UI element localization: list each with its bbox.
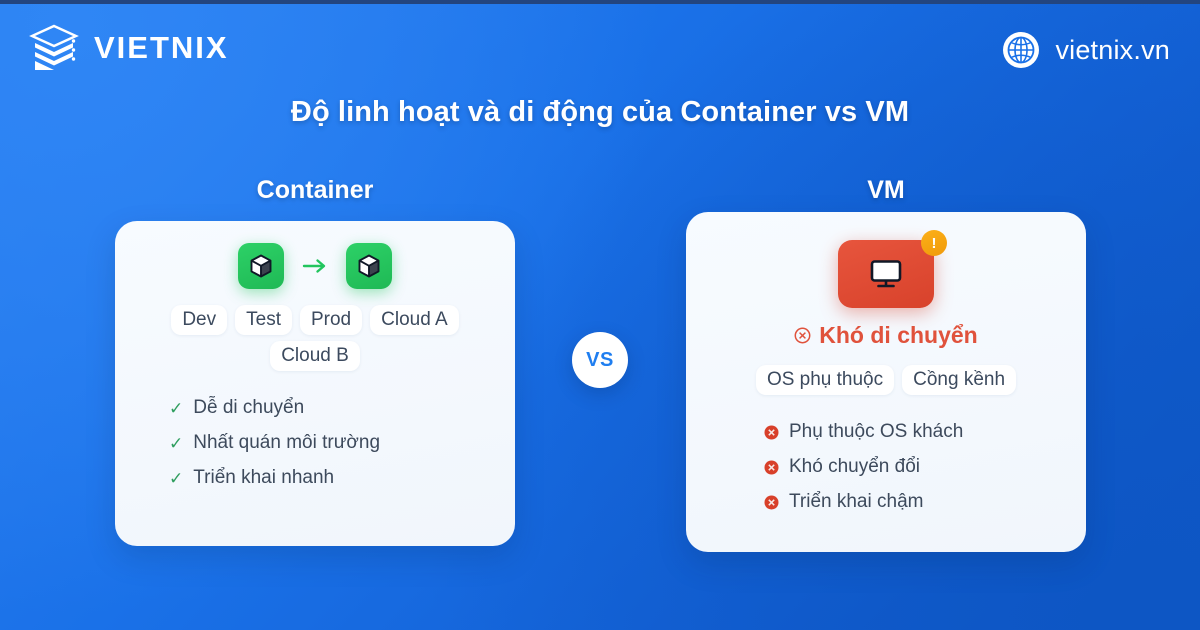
circle-x-icon [764, 495, 779, 510]
page-title: Độ linh hoạt và di động của Container vs… [0, 96, 1200, 129]
tag-item: Cloud B [270, 341, 360, 371]
website-text: vietnix.vn [1055, 35, 1170, 66]
container-tags: Dev Test Prod Cloud A Cloud B [115, 289, 515, 371]
arrow-right-icon [300, 255, 330, 277]
cube-icon [346, 243, 392, 289]
column-heading-vm: VM [686, 176, 1086, 205]
website-label: vietnix.vn [1001, 30, 1170, 70]
brand-logo: VIETNIX [28, 22, 229, 74]
tag-item: Cloud A [370, 305, 459, 335]
check-icon: ✓ [169, 400, 183, 417]
brand-name: VIETNIX [94, 30, 229, 66]
list-item: Triển khai chậm [764, 491, 1086, 513]
infographic-canvas: VIETNIX vietnix.vn Độ linh hoạt và di độ… [0, 0, 1200, 630]
vm-icon-group: ! [838, 240, 934, 308]
list-item-label: Khó chuyển đổi [789, 456, 920, 478]
circle-x-icon [794, 327, 811, 344]
container-bullets: ✓ Dễ di chuyển ✓ Nhất quán môi trường ✓ … [115, 371, 515, 489]
list-item-label: Dễ di chuyển [193, 397, 304, 419]
vs-badge: VS [572, 332, 628, 388]
list-item-label: Nhất quán môi trường [193, 432, 380, 454]
list-item: ✓ Nhất quán môi trường [169, 432, 515, 454]
warning-badge: ! [921, 230, 947, 256]
list-item-label: Phụ thuộc OS khách [789, 421, 963, 443]
vm-card: ! Khó di chuyển OS phụ thuộc Cồng kềnh [686, 212, 1086, 552]
container-card: Dev Test Prod Cloud A Cloud B ✓ Dễ di ch… [115, 221, 515, 546]
vm-status: Khó di chuyển [686, 308, 1086, 349]
list-item-label: Triển khai chậm [789, 491, 923, 513]
list-item-label: Triển khai nhanh [193, 467, 334, 489]
circle-x-icon [764, 425, 779, 440]
list-item: ✓ Dễ di chuyển [169, 397, 515, 419]
check-icon: ✓ [169, 435, 183, 452]
list-item: Khó chuyển đổi [764, 456, 1086, 478]
tag-item: OS phụ thuộc [756, 365, 894, 395]
container-icon-row [115, 221, 515, 289]
tag-item: Prod [300, 305, 362, 335]
vm-bullets: Phụ thuộc OS khách Khó chuyển đổi [686, 395, 1086, 513]
circle-x-icon [764, 460, 779, 475]
tag-item: Dev [171, 305, 227, 335]
list-item: Phụ thuộc OS khách [764, 421, 1086, 443]
tag-item: Cồng kềnh [902, 365, 1016, 395]
tag-item: Test [235, 305, 292, 335]
stacked-layers-icon [28, 22, 80, 74]
cube-icon [238, 243, 284, 289]
check-icon: ✓ [169, 470, 183, 487]
vm-tags: OS phụ thuộc Cồng kềnh [686, 349, 1086, 395]
list-item: ✓ Triển khai nhanh [169, 467, 515, 489]
globe-icon [1001, 30, 1041, 70]
monitor-icon [838, 240, 934, 308]
top-strip [0, 0, 1200, 4]
vm-status-label: Khó di chuyển [819, 322, 977, 349]
column-heading-container: Container [115, 176, 515, 205]
